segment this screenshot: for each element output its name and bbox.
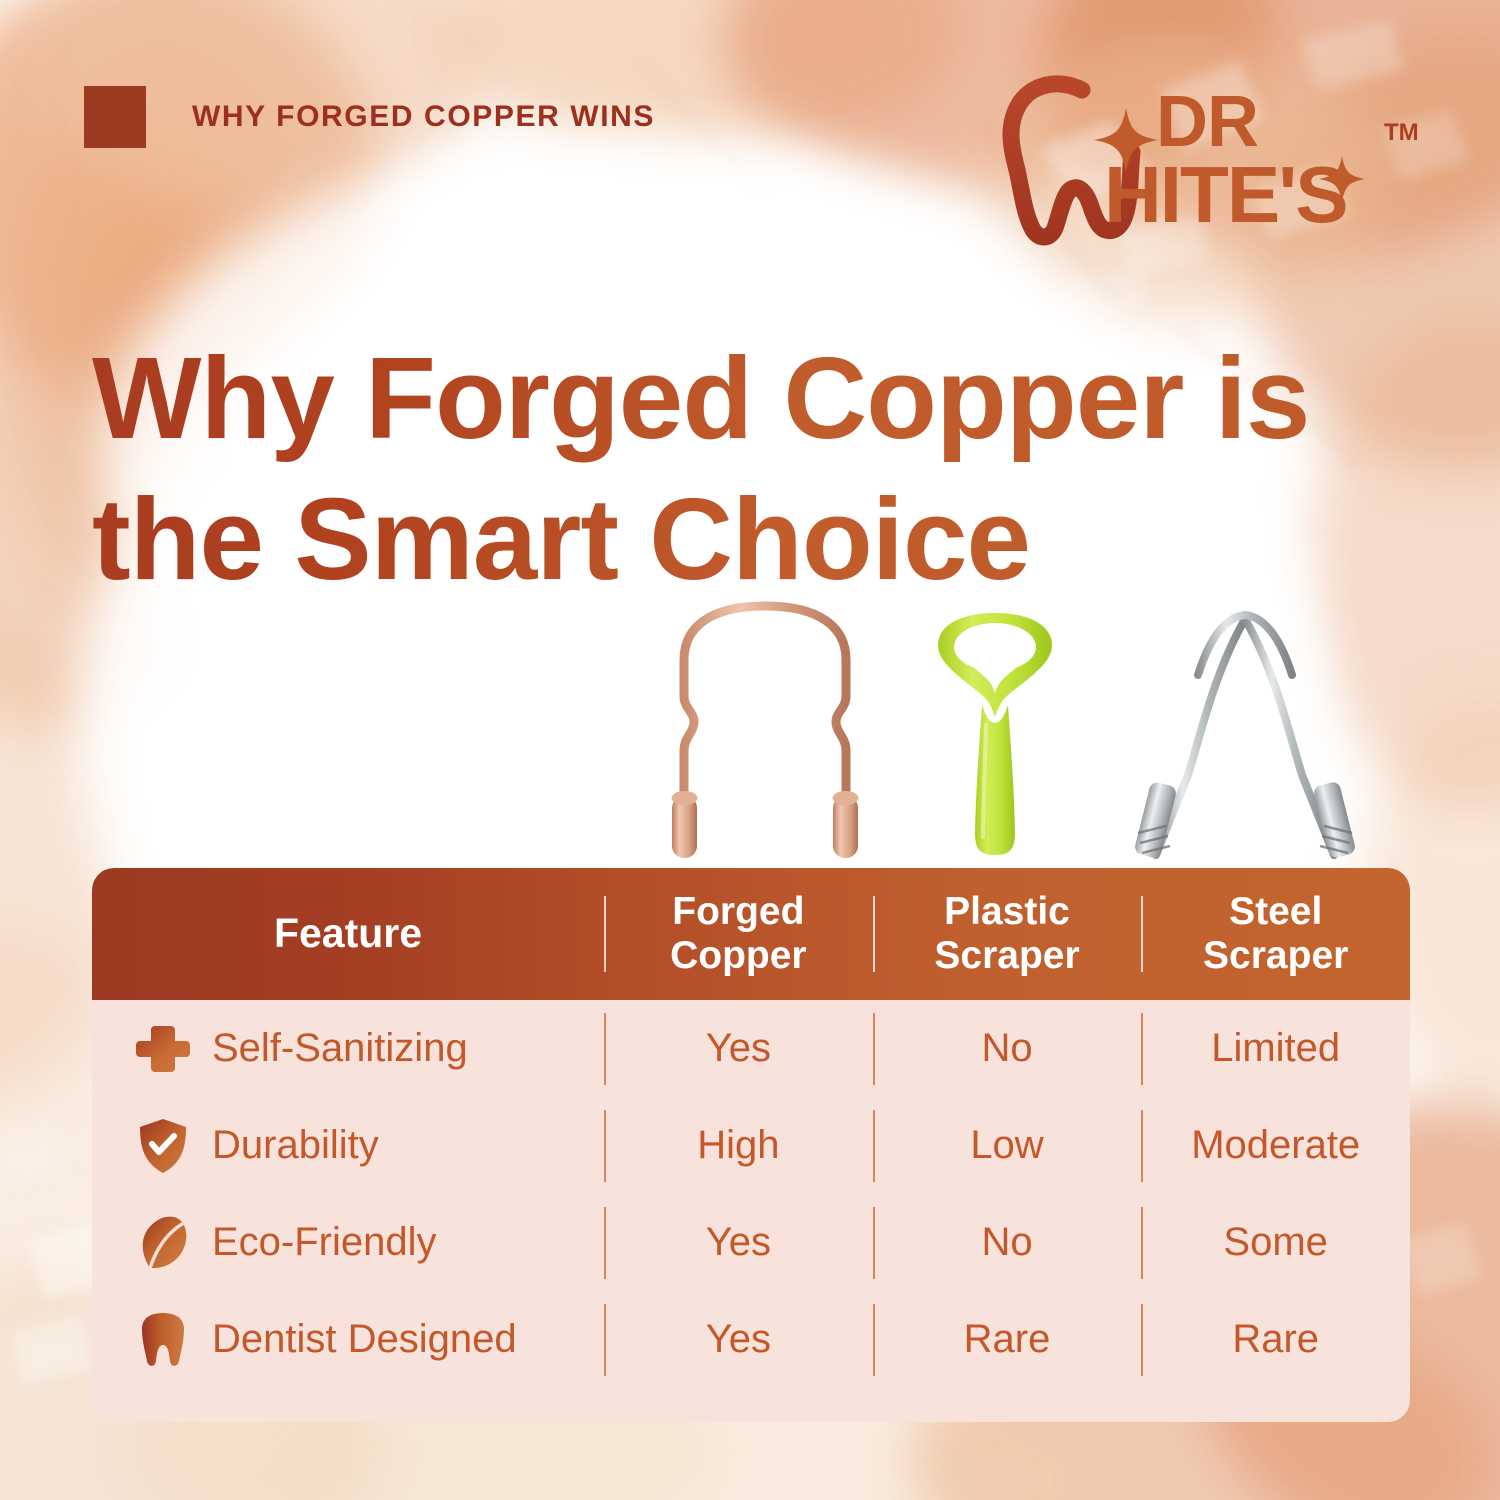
table-row: Dentist Designed Yes Rare Rare (92, 1291, 1410, 1388)
plastic-scraper-icon (930, 605, 1060, 860)
cell-steel-scraper: Limited (1141, 1026, 1410, 1071)
cell-steel-scraper: Moderate (1141, 1123, 1410, 1168)
cell-forged-copper: Yes (604, 1026, 873, 1071)
cell-plastic-scraper: No (873, 1026, 1142, 1071)
column-header-feature: Feature (92, 911, 604, 957)
eyebrow-header: WHY FORGED COPPER WINS (84, 86, 655, 148)
column-header-forged-copper-line1: Forged (604, 890, 873, 934)
feature-label: Eco-Friendly (212, 1220, 437, 1265)
cell-steel-scraper: Some (1141, 1220, 1410, 1265)
column-header-steel-scraper: Steel Scraper (1141, 890, 1410, 977)
comparison-table: Feature Forged Copper Plastic Scraper St… (92, 868, 1410, 1422)
product-image-row (640, 595, 1380, 860)
table-bottom-padding (92, 1388, 1410, 1422)
steel-scraper-icon (1130, 605, 1360, 860)
cell-forged-copper: Yes (604, 1317, 873, 1362)
brand-logo: DR HITE'S TM (986, 72, 1426, 252)
product-image-steel (1130, 605, 1360, 860)
eyebrow-accent-square (84, 86, 146, 148)
cell-steel-scraper: Rare (1141, 1317, 1410, 1362)
column-header-plastic-scraper: Plastic Scraper (873, 890, 1142, 977)
feature-label: Durability (212, 1123, 379, 1168)
forged-copper-scraper-icon (650, 600, 880, 860)
plus-cross-icon (136, 1020, 190, 1078)
eyebrow-label: WHY FORGED COPPER WINS (192, 100, 655, 134)
cell-plastic-scraper: Rare (873, 1317, 1142, 1362)
table-row: Self-Sanitizing Yes No Limited (92, 1000, 1410, 1097)
logo-text-whites: HITE'S (1104, 150, 1347, 239)
column-header-forged-copper: Forged Copper (604, 890, 873, 977)
table-cell-feature: Durability (92, 1117, 604, 1175)
column-header-plastic-line1: Plastic (873, 890, 1142, 934)
tooth-icon (136, 1311, 190, 1369)
column-header-forged-copper-line2: Copper (604, 934, 873, 978)
leaf-icon (136, 1214, 190, 1272)
table-header-row: Feature Forged Copper Plastic Scraper St… (92, 868, 1410, 1000)
table-cell-feature: Eco-Friendly (92, 1214, 604, 1272)
column-header-steel-line2: Scraper (1141, 934, 1410, 978)
trademark-mark: TM (1384, 119, 1419, 146)
table-row: Eco-Friendly Yes No Some (92, 1194, 1410, 1291)
cell-plastic-scraper: No (873, 1220, 1142, 1265)
column-header-steel-line1: Steel (1141, 890, 1410, 934)
page-title: Why Forged Copper is the Smart Choice (92, 328, 1362, 611)
dr-whites-logo-svg: DR HITE'S TM (986, 72, 1426, 252)
cell-plastic-scraper: Low (873, 1123, 1142, 1168)
shield-check-icon (136, 1117, 190, 1175)
cell-forged-copper: Yes (604, 1220, 873, 1265)
feature-label: Dentist Designed (212, 1317, 517, 1362)
column-header-plastic-line2: Scraper (873, 934, 1142, 978)
table-cell-feature: Dentist Designed (92, 1311, 604, 1369)
product-image-forged-copper (650, 600, 880, 860)
cell-forged-copper: High (604, 1123, 873, 1168)
table-cell-feature: Self-Sanitizing (92, 1020, 604, 1078)
product-image-plastic (930, 605, 1060, 860)
table-row: Durability High Low Moderate (92, 1097, 1410, 1194)
feature-label: Self-Sanitizing (212, 1026, 468, 1071)
